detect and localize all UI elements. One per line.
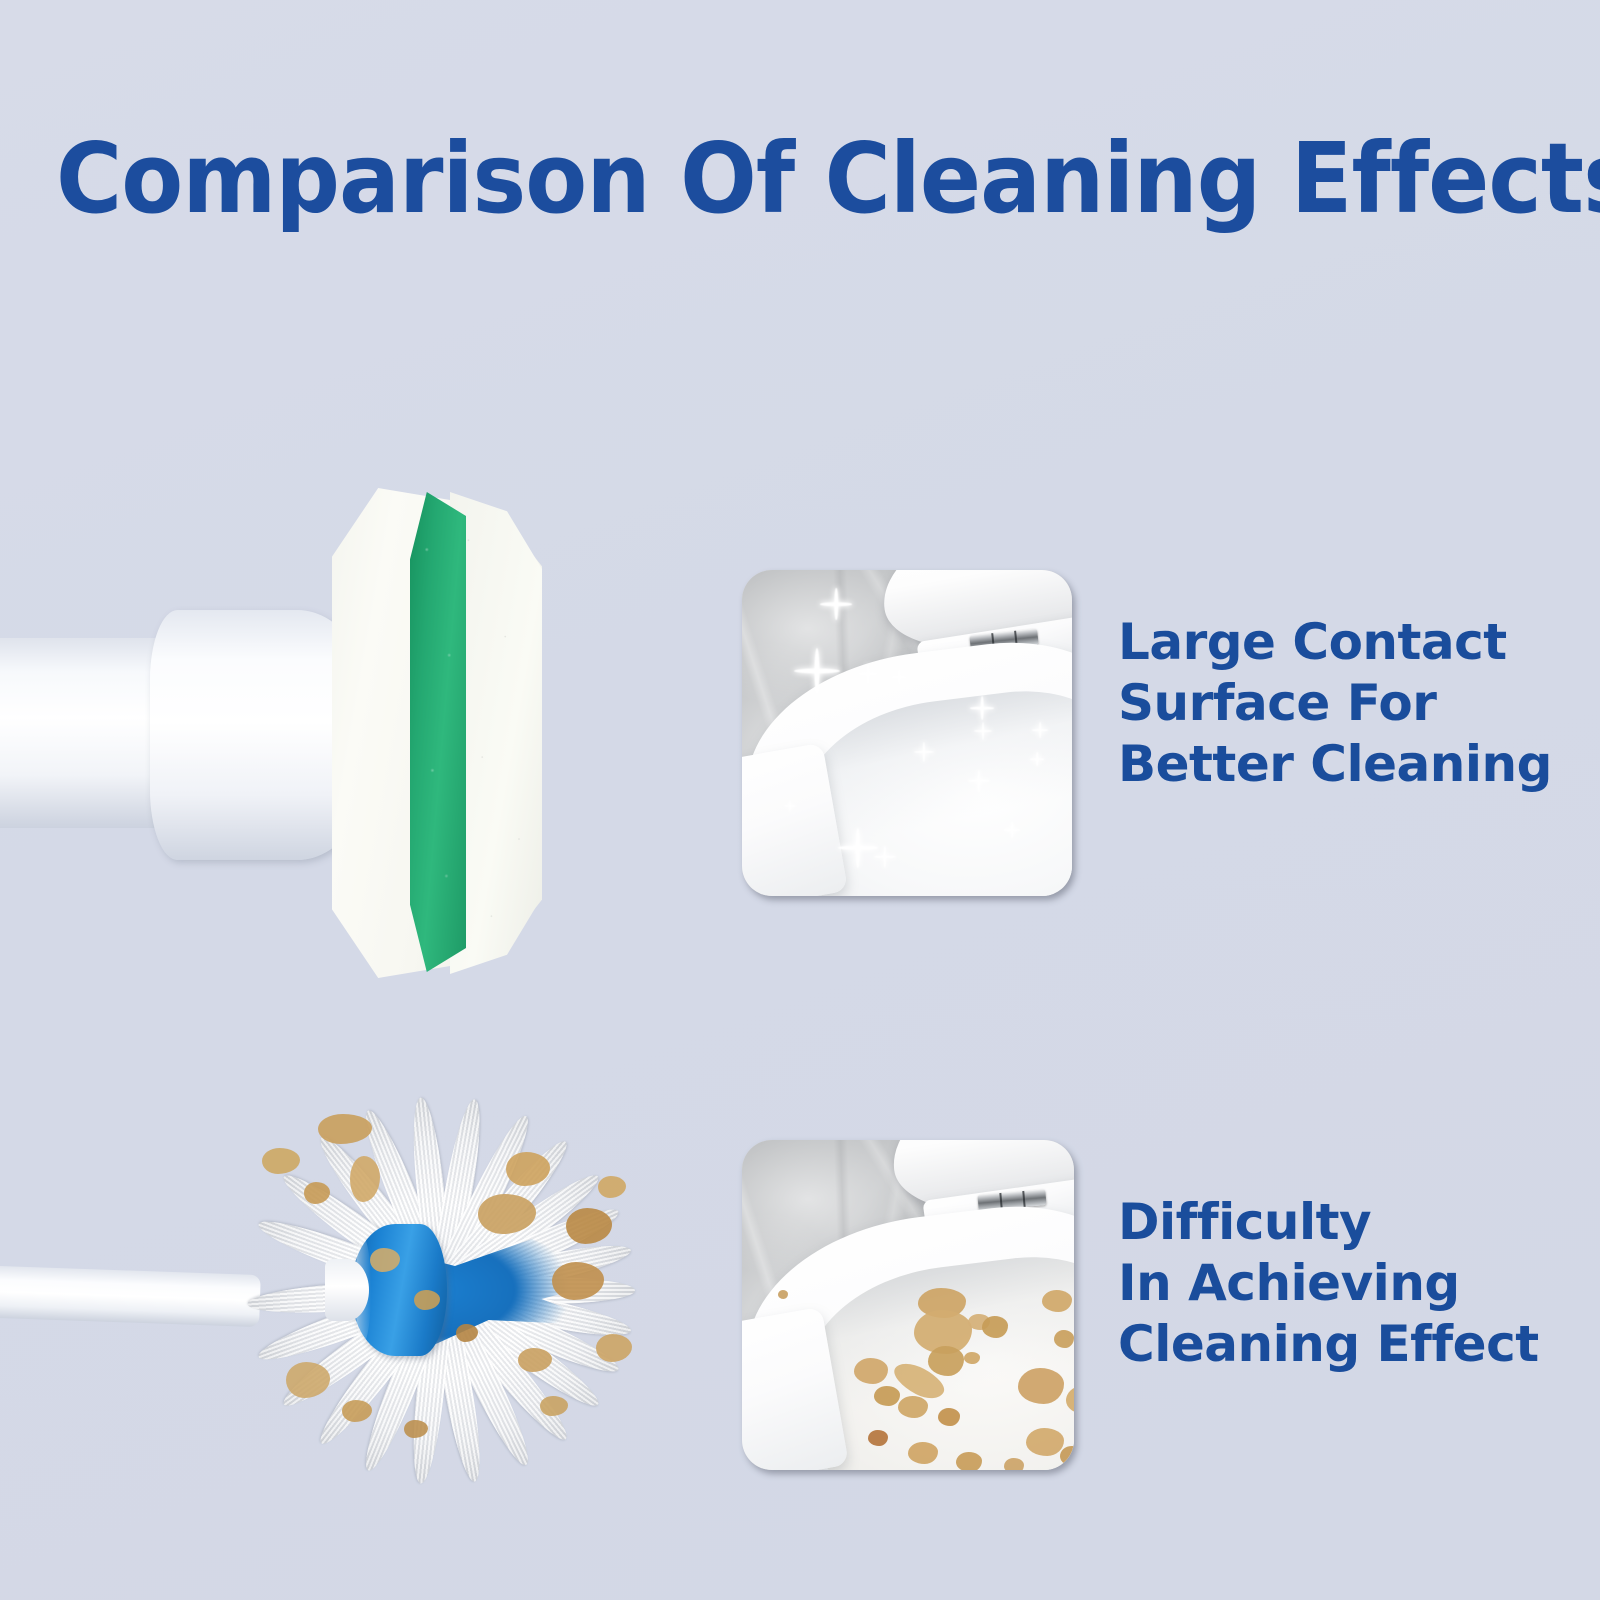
sponge-green-scrub-stripe bbox=[410, 492, 466, 972]
caption-line: Better Cleaning bbox=[1118, 734, 1552, 795]
dirt-stain bbox=[1018, 1368, 1064, 1404]
grime-speck bbox=[262, 1148, 300, 1174]
grime-speck bbox=[342, 1400, 372, 1422]
dirt-stain bbox=[964, 1352, 980, 1364]
caption-difficulty-cleaning: Difficulty In Achieving Cleaning Effect bbox=[1118, 1192, 1539, 1375]
dirt-stain bbox=[898, 1396, 928, 1418]
caption-line: Cleaning Effect bbox=[1118, 1314, 1539, 1375]
dirty-toilet-bowl-photo bbox=[742, 1140, 1074, 1470]
grime-speck bbox=[540, 1396, 568, 1416]
caption-line: Difficulty bbox=[1118, 1192, 1539, 1253]
dirt-stain bbox=[928, 1346, 964, 1376]
grime-speck bbox=[596, 1334, 632, 1362]
sponge-scrubber-brush bbox=[0, 470, 620, 990]
grime-speck bbox=[286, 1362, 330, 1398]
dirt-stain bbox=[1004, 1458, 1024, 1470]
bristle-brush-head bbox=[200, 1090, 670, 1490]
caption-line: Surface For bbox=[1118, 673, 1552, 734]
caption-line: In Achieving bbox=[1118, 1253, 1539, 1314]
clean-toilet-bowl-photo bbox=[742, 570, 1072, 896]
grime-speck bbox=[318, 1114, 372, 1144]
dirt-stain bbox=[956, 1452, 982, 1470]
grime-speck bbox=[598, 1176, 626, 1198]
caption-line: Large Contact bbox=[1118, 612, 1552, 673]
dirt-stain bbox=[1026, 1428, 1064, 1456]
clean-toilet-scene bbox=[742, 570, 1072, 896]
dirt-stain bbox=[1054, 1330, 1074, 1348]
dirt-stain bbox=[982, 1316, 1008, 1338]
bristle-brush-ferrule bbox=[325, 1259, 369, 1321]
grime-speck bbox=[566, 1208, 612, 1244]
dirt-stain bbox=[1042, 1290, 1072, 1312]
caption-large-contact-surface: Large Contact Surface For Better Cleanin… bbox=[1118, 612, 1552, 795]
dirt-stain bbox=[778, 1290, 788, 1299]
dirt-stain bbox=[868, 1430, 888, 1446]
dirt-stain bbox=[908, 1442, 938, 1464]
bristle-toilet-brush bbox=[0, 1080, 710, 1500]
dirt-stain bbox=[938, 1408, 960, 1426]
dirt-stain bbox=[854, 1358, 888, 1384]
dirty-toilet-scene bbox=[742, 1140, 1074, 1470]
comparison-poster: Comparison Of Cleaning Effects bbox=[0, 0, 1600, 1600]
dirt-stain bbox=[874, 1386, 900, 1406]
page-title: Comparison Of Cleaning Effects bbox=[56, 128, 1544, 230]
